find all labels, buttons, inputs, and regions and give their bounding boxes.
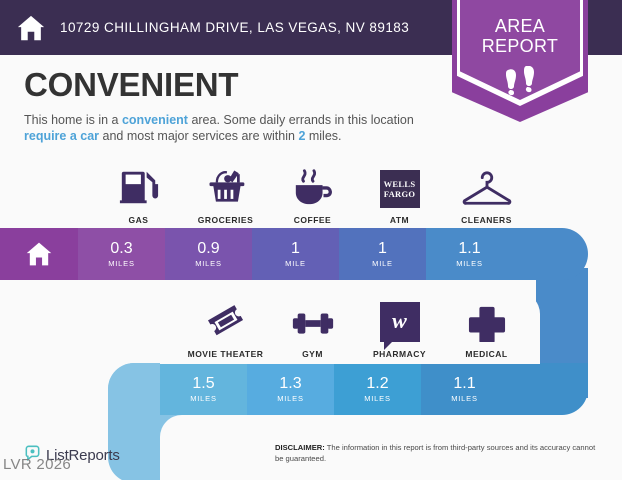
distance-unit: MILE (285, 259, 306, 268)
amenity-groceries: GROCERIES (182, 164, 269, 225)
distance-cell-tail (513, 228, 588, 280)
wf-line-2: FARGO (384, 189, 416, 199)
distance-value: 1.5 (192, 375, 214, 392)
amenity-label: GAS (129, 215, 149, 225)
subtitle-part-4: miles. (305, 129, 341, 143)
distance-cell-lead (108, 363, 160, 415)
amenity-label: GYM (302, 349, 323, 359)
coffee-cup-icon (291, 164, 335, 208)
footprints-icon (504, 66, 536, 96)
bar-home-cell (0, 228, 78, 280)
grocery-basket-icon (204, 164, 248, 208)
amenity-label: CLEANERS (461, 215, 512, 225)
distance-value: 1.3 (279, 375, 301, 392)
distance-value: 0.3 (110, 240, 132, 257)
walgreens-w-letter: w (392, 310, 407, 332)
amenity-label: MOVIE THEATER (188, 349, 264, 359)
amenity-label: COFFEE (294, 215, 331, 225)
distance-cell-tail-2 (508, 363, 588, 415)
distance-value: 1 (378, 240, 387, 257)
badge-title: AREA REPORT (452, 16, 588, 56)
distance-cell-gym: 1.3 MILES (247, 363, 334, 415)
distance-value: 1.1 (453, 375, 475, 392)
subtitle-part-3: and most major services are within (99, 129, 298, 143)
medical-cross-icon (468, 298, 506, 342)
distance-cell-pharmacy: 1.2 MILES (334, 363, 421, 415)
subtitle-highlight-convenient: convenient (122, 113, 188, 127)
distance-unit: MILES (195, 259, 222, 268)
page-title: CONVENIENT (24, 66, 238, 104)
distance-cell-groceries: 0.9 MILES (165, 228, 252, 280)
amenity-pharmacy: w PHARMACY (356, 298, 443, 359)
distance-value: 0.9 (197, 240, 219, 257)
amenity-movie-theater: MOVIE THEATER (182, 298, 269, 359)
distance-cell-medical: 1.1 MILES (421, 363, 508, 415)
disclaimer-label: DISCLAIMER: (275, 443, 325, 452)
distance-unit: MILES (364, 394, 391, 403)
badge-line-2: REPORT (452, 36, 588, 56)
amenity-icon-row-1: GAS GROCERIES (95, 164, 530, 225)
badge-line-1: AREA (452, 16, 588, 36)
distance-unit: MILE (372, 259, 393, 268)
distance-bar-row-1: 0.3 MILES 0.9 MILES 1 MILE 1 MILE 1.1 MI… (0, 228, 588, 280)
subtitle-part-2: area. Some daily errands in this locatio… (188, 113, 414, 127)
amenity-label: PHARMACY (373, 349, 426, 359)
amenity-cleaners: CLEANERS (443, 164, 530, 225)
area-report-badge: AREA REPORT (452, 0, 588, 122)
distance-cell-coffee: 1 MILE (252, 228, 339, 280)
subtitle-part-1: This home is in a (24, 113, 122, 127)
distance-value: 1.1 (458, 240, 480, 257)
amenity-atm: WELLS FARGO ATM (356, 164, 443, 225)
subtitle-highlight-require-car: require a car (24, 129, 99, 143)
amenity-icon-row-2: MOVIE THEATER GYM w PHARMACY (182, 298, 530, 359)
amenity-label: MEDICAL (465, 349, 507, 359)
distance-bar-row-2: 1.5 MILES 1.3 MILES 1.2 MILES 1.1 MILES (108, 363, 588, 415)
area-report-page: 10729 CHILLINGHAM DRIVE, LAS VEGAS, NV 8… (0, 0, 622, 480)
amenity-gym: GYM (269, 298, 356, 359)
page-subtitle: This home is in a convenient area. Some … (24, 112, 444, 144)
walgreens-icon: w (380, 298, 420, 342)
property-address: 10729 CHILLINGHAM DRIVE, LAS VEGAS, NV 8… (60, 20, 409, 35)
distance-cell-atm: 1 MILE (339, 228, 426, 280)
distance-unit: MILES (190, 394, 217, 403)
distance-cell-cleaners: 1.1 MILES (426, 228, 513, 280)
distance-cell-gas: 0.3 MILES (78, 228, 165, 280)
wells-fargo-logo: WELLS FARGO (380, 170, 420, 208)
watermark-label: LVR 2026 (3, 456, 71, 473)
home-icon (16, 13, 46, 43)
distance-unit: MILES (108, 259, 135, 268)
distance-value: 1.2 (366, 375, 388, 392)
distance-cell-movie-theater: 1.5 MILES (160, 363, 247, 415)
wells-fargo-icon: WELLS FARGO (380, 164, 420, 208)
disclaimer: DISCLAIMER: The information in this repo… (275, 443, 597, 464)
movie-ticket-icon (205, 298, 247, 342)
distance-unit: MILES (277, 394, 304, 403)
gas-pump-icon (118, 164, 160, 208)
amenity-label: ATM (390, 215, 409, 225)
amenity-coffee: COFFEE (269, 164, 356, 225)
distance-unit: MILES (456, 259, 483, 268)
amenity-gas: GAS (95, 164, 182, 225)
distance-value: 1 (291, 240, 300, 257)
amenity-medical: MEDICAL (443, 298, 530, 359)
distance-unit: MILES (451, 394, 478, 403)
hanger-icon (462, 164, 512, 208)
walgreens-logo: w (380, 302, 420, 342)
home-icon (25, 240, 53, 268)
amenity-label: GROCERIES (198, 215, 254, 225)
dumbbell-icon (290, 298, 336, 342)
wf-line-1: WELLS (384, 179, 416, 189)
